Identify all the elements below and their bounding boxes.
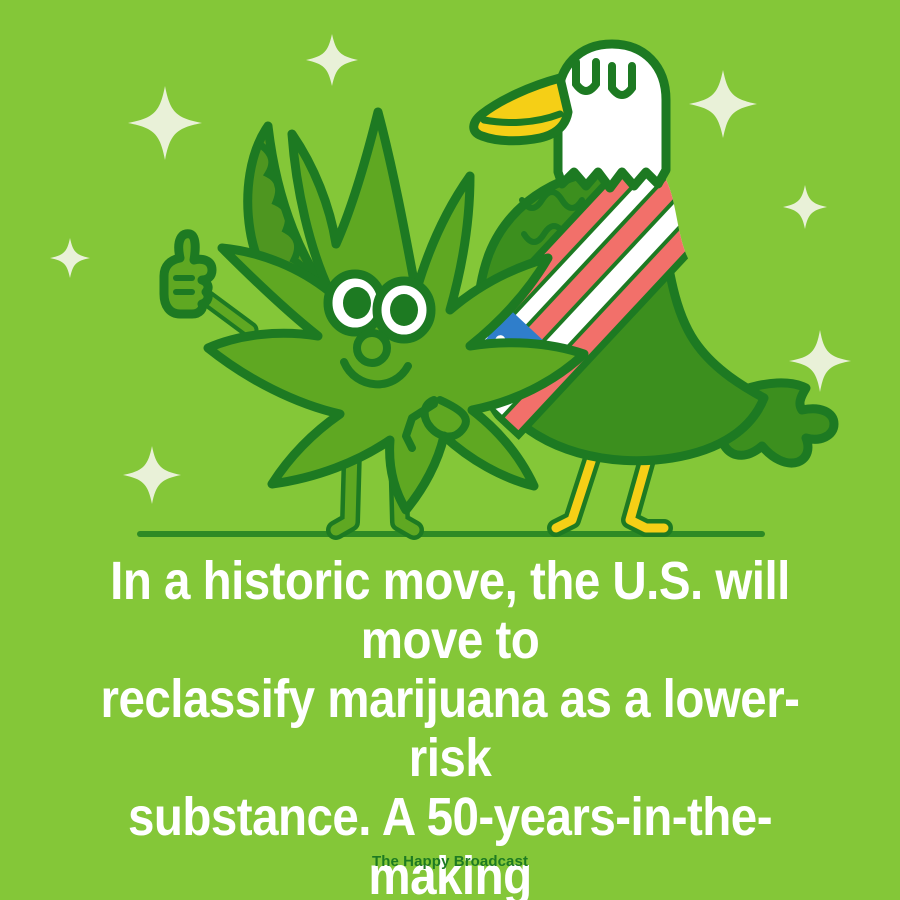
sparkle-icon xyxy=(689,70,757,138)
sparkle-icon xyxy=(783,185,827,229)
leaf-pupil-right xyxy=(390,294,418,326)
sparkle-icon xyxy=(123,446,181,504)
brand-footer: The Happy Broadcast xyxy=(0,853,900,870)
leaf-pupil-left xyxy=(343,287,371,319)
illustration-canvas xyxy=(0,0,900,560)
happy-broadcast-poster: In a historic move, the U.S. will move t… xyxy=(0,0,900,900)
thumbs-up-icon xyxy=(164,234,212,314)
headline-text: In a historic move, the U.S. will move t… xyxy=(54,552,846,900)
eagle-beak xyxy=(474,78,568,141)
sparkle-icon xyxy=(306,34,358,86)
sparkle-icon xyxy=(128,86,202,160)
sparkle-icon xyxy=(50,238,90,278)
